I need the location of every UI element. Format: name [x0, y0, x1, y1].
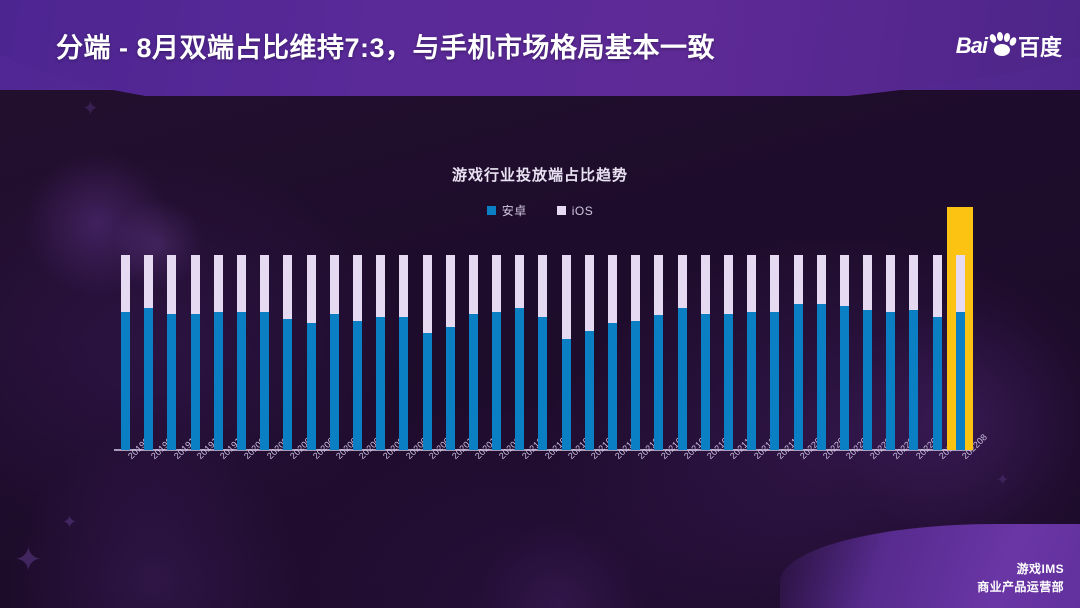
- bar-slot[interactable]: [717, 255, 740, 450]
- x-label-slot: 202007: [369, 450, 392, 516]
- x-label-slot: 202204: [856, 450, 879, 516]
- baidu-logo-latin: Bai: [956, 33, 987, 59]
- bar-segment-android: [654, 315, 663, 450]
- bar-segment-android: [956, 312, 965, 450]
- bar-segment-ios: [237, 255, 246, 312]
- stacked-bar[interactable]: [399, 255, 408, 450]
- bar-segment-android: [840, 306, 849, 450]
- bar-segment-ios: [956, 255, 965, 312]
- bar-slot[interactable]: [137, 255, 160, 450]
- bar-segment-ios: [167, 255, 176, 314]
- stacked-bar[interactable]: [121, 255, 130, 450]
- bar-segment-ios: [191, 255, 200, 314]
- x-label-slot: 202206: [902, 450, 925, 516]
- bar-segment-ios: [678, 255, 687, 308]
- bar-segment-ios: [121, 255, 130, 312]
- bar-slot[interactable]: [624, 255, 647, 450]
- bar-segment-ios: [886, 255, 895, 312]
- bar-slot[interactable]: [647, 255, 670, 450]
- stacked-bar[interactable]: [283, 255, 292, 450]
- bar-segment-ios: [794, 255, 803, 304]
- bar-segment-android: [121, 312, 130, 450]
- x-label-slot: 202205: [879, 450, 902, 516]
- x-label-slot: 202207: [926, 450, 949, 516]
- bar-slot[interactable]: [392, 255, 415, 450]
- stacked-bar[interactable]: [376, 255, 385, 450]
- bar-slot[interactable]: [114, 255, 137, 450]
- bar-segment-android: [283, 319, 292, 450]
- stacked-bar[interactable]: [562, 255, 571, 450]
- bar-segment-android: [701, 314, 710, 451]
- bar-segment-ios: [214, 255, 223, 312]
- x-label-slot: 201909: [137, 450, 160, 516]
- stacked-bar[interactable]: [492, 255, 501, 450]
- bar-slot[interactable]: [369, 255, 392, 450]
- bar-segment-ios: [538, 255, 547, 317]
- bar-segment-ios: [724, 255, 733, 314]
- x-label-slot: 202203: [833, 450, 856, 516]
- stacked-bar[interactable]: [538, 255, 547, 450]
- bar-segment-android: [167, 314, 176, 451]
- bar-segment-ios: [909, 255, 918, 310]
- bar-segment-ios: [376, 255, 385, 317]
- bar-segment-ios: [585, 255, 594, 331]
- stacked-bar[interactable]: [330, 255, 339, 450]
- x-label-slot: 201908: [114, 450, 137, 516]
- bar-slot[interactable]: [346, 255, 369, 450]
- x-label-slot: 202202: [810, 450, 833, 516]
- bar-segment-android: [747, 312, 756, 450]
- bar-segment-ios: [933, 255, 942, 317]
- x-label-slot: 202208: [949, 450, 972, 516]
- bar-segment-android: [330, 314, 339, 451]
- bar-segment-android: [863, 310, 872, 450]
- bar-slot[interactable]: [694, 255, 717, 450]
- bar-segment-android: [724, 314, 733, 451]
- bar-segment-ios: [631, 255, 640, 321]
- bar-slot[interactable]: [786, 255, 809, 450]
- bar-slot[interactable]: [879, 255, 902, 450]
- x-label-slot: 202201: [786, 450, 809, 516]
- bar-segment-android: [237, 312, 246, 450]
- stacked-bar[interactable]: [469, 255, 478, 450]
- bar-slot[interactable]: [671, 255, 694, 450]
- bar-segment-ios: [840, 255, 849, 306]
- bar-segment-ios: [747, 255, 756, 312]
- bar-segment-android: [144, 308, 153, 450]
- baidu-logo-cn: 百度: [1018, 30, 1062, 62]
- bar-slot[interactable]: [323, 255, 346, 450]
- stacked-bar[interactable]: [585, 255, 594, 450]
- x-label-slot: 202112: [763, 450, 786, 516]
- x-axis-labels: 2019082019092019102019112019122020012020…: [114, 450, 972, 516]
- bar-slot[interactable]: [531, 255, 554, 450]
- bar-segment-android: [515, 308, 524, 450]
- x-label-slot: 202008: [392, 450, 415, 516]
- slide-root: ✦ ✦ ✦ ✦ 分端 - 8月双端占比维持7:3，与手机市场格局基本一致 Bai…: [0, 0, 1080, 608]
- stacked-bar[interactable]: [840, 255, 849, 450]
- x-label-slot: 202010: [439, 450, 462, 516]
- bar-slot[interactable]: [833, 255, 856, 450]
- bar-segment-ios: [307, 255, 316, 323]
- x-label-slot: 202110: [717, 450, 740, 516]
- stacked-bar[interactable]: [654, 255, 663, 450]
- bar-segment-ios: [770, 255, 779, 312]
- bar-segment-ios: [562, 255, 571, 339]
- page-title: 分端 - 8月双端占比维持7:3，与手机市场格局基本一致: [56, 26, 715, 65]
- stacked-bar[interactable]: [515, 255, 524, 450]
- bar-slot[interactable]: [926, 255, 949, 450]
- bar-segment-ios: [817, 255, 826, 304]
- stacked-bar[interactable]: [307, 255, 316, 450]
- bar-segment-ios: [492, 255, 501, 312]
- bar-segment-ios: [701, 255, 710, 314]
- bar-slot[interactable]: [508, 255, 531, 450]
- stacked-bar[interactable]: [237, 255, 246, 450]
- bar-slot[interactable]: [276, 255, 299, 450]
- bar-slot[interactable]: [810, 255, 833, 450]
- bar-segment-android: [538, 317, 547, 450]
- bar-slot[interactable]: [485, 255, 508, 450]
- bar-slot[interactable]: [555, 255, 578, 450]
- x-label-slot: 202102: [531, 450, 554, 516]
- bar-segment-android: [423, 333, 432, 450]
- x-label-slot: 202004: [300, 450, 323, 516]
- stacked-bar[interactable]: [144, 255, 153, 450]
- x-label-slot: 202108: [671, 450, 694, 516]
- bar-segment-android: [770, 312, 779, 450]
- stacked-bar[interactable]: [353, 255, 362, 450]
- bar-slot[interactable]: [763, 255, 786, 450]
- bar-segment-android: [794, 304, 803, 450]
- bar-segment-android: [886, 312, 895, 450]
- x-label-slot: 201912: [207, 450, 230, 516]
- bar-slot[interactable]: [300, 255, 323, 450]
- x-label-slot: 202001: [230, 450, 253, 516]
- x-label-slot: 202012: [485, 450, 508, 516]
- bar-segment-ios: [446, 255, 455, 327]
- x-label-slot: 202106: [624, 450, 647, 516]
- stacked-bar[interactable]: [817, 255, 826, 450]
- bar-segment-ios: [423, 255, 432, 333]
- bar-slot[interactable]: [207, 255, 230, 450]
- bar-segment-android: [307, 323, 316, 450]
- bar-segment-android: [353, 321, 362, 450]
- stacked-bar[interactable]: [167, 255, 176, 450]
- bar-slot[interactable]: [902, 255, 925, 450]
- stacked-bar[interactable]: [794, 255, 803, 450]
- x-label-slot: 202002: [253, 450, 276, 516]
- bar-segment-android: [585, 331, 594, 450]
- bar-segment-android: [399, 317, 408, 450]
- x-label-slot: 202104: [578, 450, 601, 516]
- stacked-bar[interactable]: [933, 255, 942, 450]
- stacked-bar[interactable]: [770, 255, 779, 450]
- bar-segment-ios: [608, 255, 617, 323]
- stacked-bar[interactable]: [747, 255, 756, 450]
- bar-slot[interactable]: [578, 255, 601, 450]
- x-label-slot: 202107: [647, 450, 670, 516]
- bar-slot[interactable]: [160, 255, 183, 450]
- bar-segment-android: [817, 304, 826, 450]
- x-label-slot: 202101: [508, 450, 531, 516]
- baidu-logo: Bai 百度: [956, 30, 1062, 62]
- x-label-slot: 202009: [415, 450, 438, 516]
- bar-segment-android: [631, 321, 640, 450]
- bar-group: [114, 255, 972, 450]
- bar-segment-ios: [399, 255, 408, 317]
- footer-credit: 游戏IMS 商业产品运营部: [977, 561, 1064, 596]
- x-label-slot: 202109: [694, 450, 717, 516]
- bar-segment-ios: [144, 255, 153, 308]
- chart-plot-area: 2019082019092019102019112019122020012020…: [114, 96, 972, 516]
- stacked-bar[interactable]: [423, 255, 432, 450]
- stacked-bar[interactable]: [191, 255, 200, 450]
- x-label-slot: 202003: [276, 450, 299, 516]
- bar-slot[interactable]: [462, 255, 485, 450]
- x-label-slot: 202111: [740, 450, 763, 516]
- paw-icon: [989, 34, 1015, 58]
- footer-line-2: 商业产品运营部: [977, 579, 1064, 596]
- bar-slot[interactable]: [740, 255, 763, 450]
- stacked-bar[interactable]: [956, 255, 965, 450]
- bar-segment-android: [492, 312, 501, 450]
- x-label-slot: 202005: [323, 450, 346, 516]
- bar-segment-ios: [283, 255, 292, 319]
- bar-segment-ios: [469, 255, 478, 314]
- bar-segment-android: [608, 323, 617, 450]
- stacked-bar[interactable]: [446, 255, 455, 450]
- bar-slot[interactable]: [253, 255, 276, 450]
- bar-segment-ios: [260, 255, 269, 312]
- bar-slot[interactable]: [230, 255, 253, 450]
- bar-segment-android: [678, 308, 687, 450]
- x-label-slot: 202103: [555, 450, 578, 516]
- bar-segment-android: [469, 314, 478, 451]
- stacked-bar[interactable]: [608, 255, 617, 450]
- bar-segment-android: [214, 312, 223, 450]
- bar-slot[interactable]: [415, 255, 438, 450]
- bar-segment-android: [376, 317, 385, 450]
- bar-segment-ios: [863, 255, 872, 310]
- bar-segment-android: [933, 317, 942, 450]
- stacked-bar[interactable]: [701, 255, 710, 450]
- bar-segment-android: [260, 312, 269, 450]
- bar-segment-android: [191, 314, 200, 451]
- x-label-slot: 201911: [184, 450, 207, 516]
- stacked-bar[interactable]: [909, 255, 918, 450]
- x-label-slot: 202006: [346, 450, 369, 516]
- bar-segment-ios: [353, 255, 362, 321]
- bar-segment-android: [909, 310, 918, 450]
- footer-line-1: 游戏IMS: [977, 561, 1064, 578]
- chart-container: 游戏行业投放端占比趋势 安卓 iOS 201908201909201910201…: [0, 96, 1080, 516]
- stacked-bar[interactable]: [214, 255, 223, 450]
- bar-segment-android: [562, 339, 571, 450]
- bar-segment-ios: [330, 255, 339, 314]
- bar-segment-android: [446, 327, 455, 450]
- bar-slot[interactable]: [949, 255, 972, 450]
- x-label-slot: 202105: [601, 450, 624, 516]
- stacked-bar[interactable]: [631, 255, 640, 450]
- stacked-bar[interactable]: [886, 255, 895, 450]
- stacked-bar[interactable]: [863, 255, 872, 450]
- x-label-slot: 202011: [462, 450, 485, 516]
- stacked-bar[interactable]: [260, 255, 269, 450]
- bar-slot[interactable]: [856, 255, 879, 450]
- stacked-bar[interactable]: [678, 255, 687, 450]
- bar-slot[interactable]: [439, 255, 462, 450]
- bar-slot[interactable]: [184, 255, 207, 450]
- stacked-bar[interactable]: [724, 255, 733, 450]
- bar-slot[interactable]: [601, 255, 624, 450]
- bar-segment-ios: [654, 255, 663, 315]
- x-label-slot: 201910: [160, 450, 183, 516]
- bar-segment-ios: [515, 255, 524, 308]
